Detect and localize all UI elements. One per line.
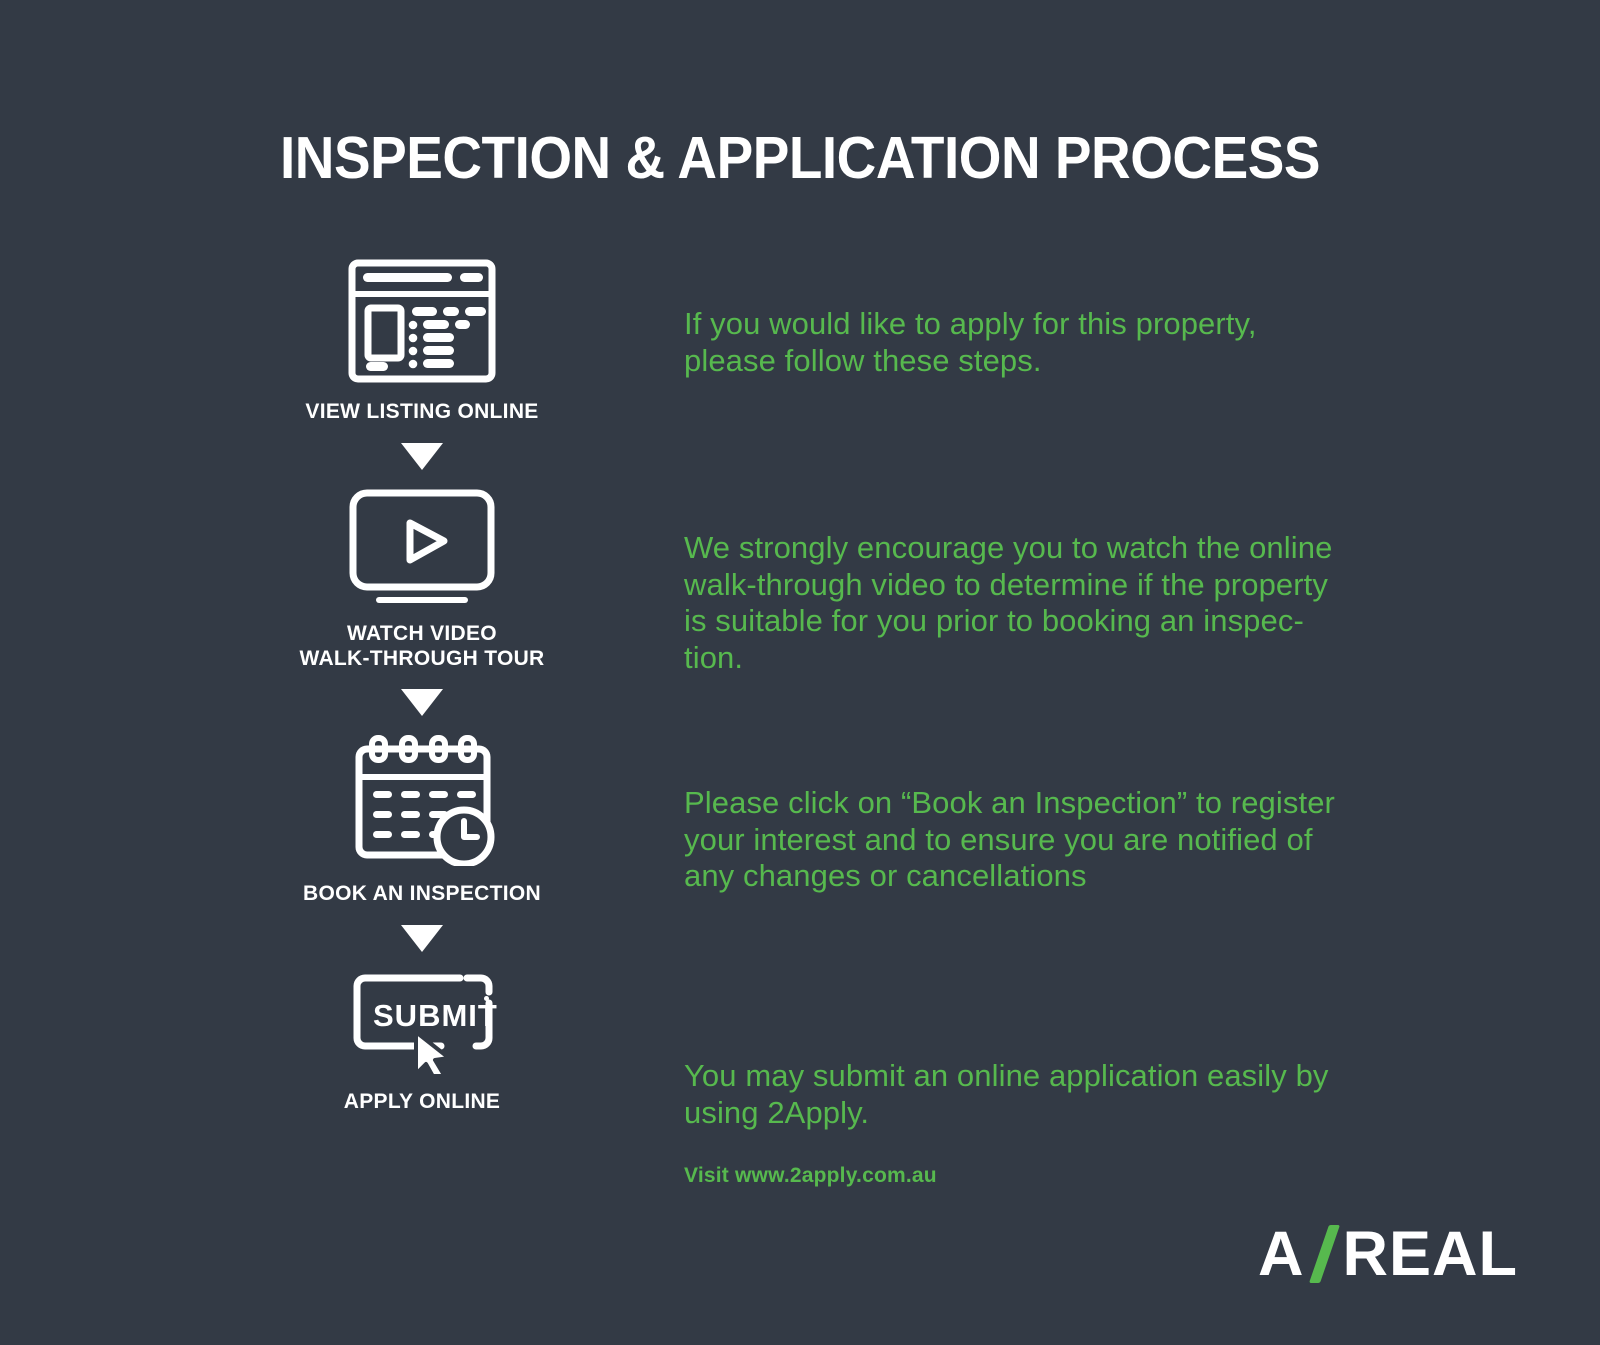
step-description-1: If you would like to apply for this prop… (684, 306, 1424, 379)
submit-button-cursor-icon: SUBMIT (347, 970, 497, 1074)
svg-text:SUBMIT: SUBMIT (373, 998, 497, 1033)
step-description-4: You may submit an online application eas… (684, 1058, 1424, 1131)
flow-arrow-down-icon (401, 689, 443, 716)
process-flow-column: VIEW LISTING ONLINE WATCH VIDEO WALK-THR… (232, 258, 612, 1115)
calendar-clock-icon (347, 734, 497, 866)
step-book-inspection: BOOK AN INSPECTION (232, 734, 612, 907)
step-description-3: Please click on “Book an Inspection” to … (684, 785, 1424, 895)
step-label: WATCH VIDEO WALK-THROUGH TOUR (299, 622, 544, 672)
step-view-listing-online: VIEW LISTING ONLINE (232, 258, 612, 425)
step-watch-video: WATCH VIDEO WALK-THROUGH TOUR (232, 488, 612, 672)
video-player-icon (347, 488, 497, 606)
step-label: BOOK AN INSPECTION (303, 882, 541, 907)
step-apply-online: SUBMIT APPLY ONLINE (232, 970, 612, 1115)
step-description-2: We strongly encourage you to watch the o… (684, 530, 1424, 676)
visit-link[interactable]: Visit www.2apply.com.au (684, 1164, 937, 1188)
infographic-canvas: INSPECTION & APPLICATION PROCESS (0, 0, 1600, 1345)
page-title: INSPECTION & APPLICATION PROCESS (56, 124, 1544, 192)
brand-logo: A REAL (1258, 1218, 1518, 1290)
flow-arrow-down-icon (401, 925, 443, 952)
logo-text-right: REAL (1343, 1218, 1519, 1290)
step-label: VIEW LISTING ONLINE (305, 400, 538, 425)
browser-listing-icon (347, 258, 497, 384)
logo-text-left: A (1258, 1218, 1305, 1290)
step-label: APPLY ONLINE (344, 1090, 500, 1115)
flow-arrow-down-icon (401, 443, 443, 470)
logo-slash-icon (1307, 1223, 1341, 1285)
